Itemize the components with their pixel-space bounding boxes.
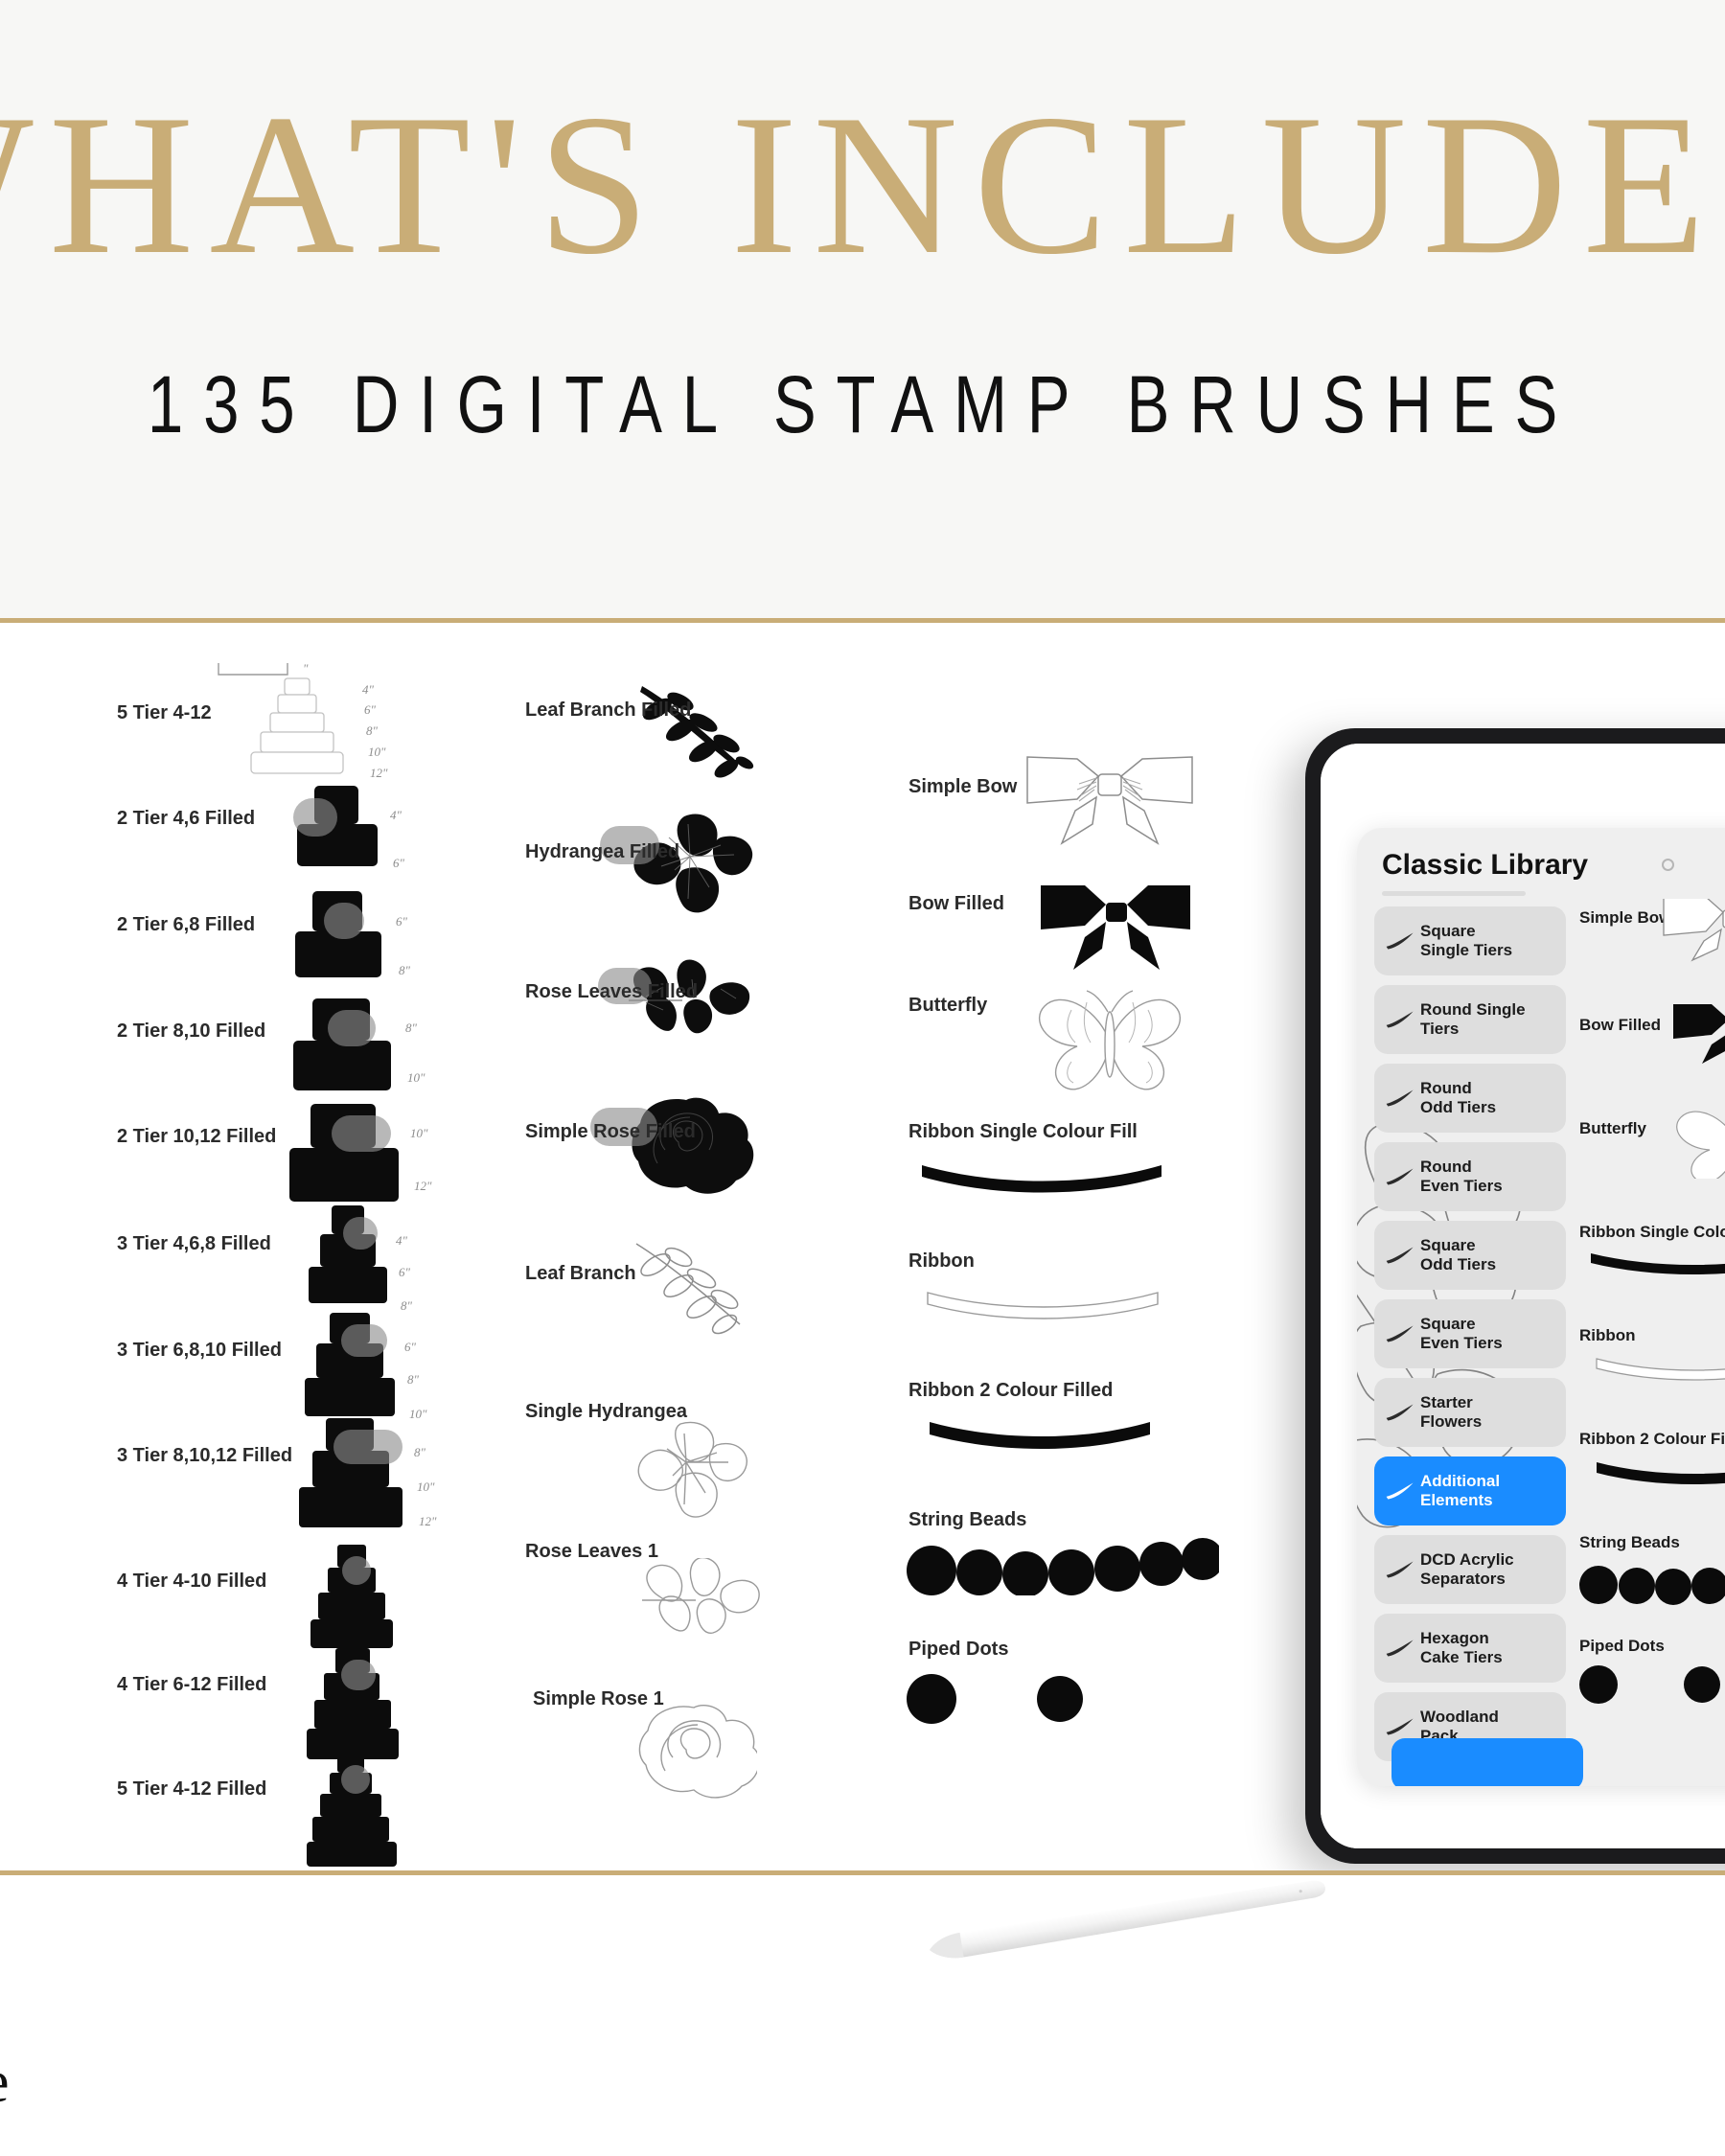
dim: 4" (396, 1233, 407, 1249)
dim: 10" (368, 745, 385, 760)
dim: 6" (396, 914, 407, 929)
dim: 10" (407, 1070, 425, 1086)
dim: 4" (362, 682, 374, 698)
brush-stroke-icon (1384, 930, 1420, 952)
bow-outline-art (1660, 899, 1725, 962)
list-item-label: Rose Leaves 1 (525, 1541, 658, 1563)
dim-top: " (303, 661, 308, 677)
brush-preview-list: Simple Bow Bow Filled (1579, 899, 1725, 1786)
list-item-label: Simple Rose Filled (525, 1121, 696, 1143)
single-hydrangea-outline-art (634, 1420, 759, 1525)
dim: 10" (410, 1126, 427, 1141)
tooltip-pill (342, 1556, 371, 1585)
cake-5tier-outline-art (247, 675, 353, 775)
list-item-label: 4 Tier 6-12 Filled (117, 1674, 266, 1696)
tooltip-pill (341, 1660, 376, 1690)
brush-stroke-icon (1384, 1480, 1420, 1502)
brush-set-label: Round Odd Tiers (1420, 1079, 1496, 1117)
preview-label: Bow Filled (1579, 1016, 1661, 1035)
dim: 8" (399, 963, 410, 978)
brush-set-label: Hexagon Cake Tiers (1420, 1629, 1503, 1667)
list-item-label: 2 Tier 10,12 Filled (117, 1126, 276, 1148)
string-beads-art (903, 1538, 1219, 1595)
string-beads-art (1579, 1560, 1725, 1606)
list-item-label: Ribbon 2 Colour Filled (908, 1380, 1113, 1402)
brush-set-label: Starter Flowers (1420, 1393, 1482, 1432)
tooltip-pill (293, 798, 337, 837)
preview-label: Butterfly (1579, 1119, 1646, 1138)
dim: 6" (399, 1265, 410, 1280)
dim: 12" (414, 1179, 431, 1194)
dim: 8" (407, 1372, 419, 1388)
ribbon-outline-art (924, 1289, 1163, 1327)
list-item-label: Single Hydrangea (525, 1401, 687, 1423)
ribbon-two-colour-art (1593, 1458, 1725, 1487)
tooltip-pill (332, 1115, 391, 1152)
preview-label: Simple Bow (1579, 908, 1671, 928)
brush-set-item-starter-flowers[interactable]: Starter Flowers (1374, 1378, 1566, 1447)
list-item-label: Rose Leaves Filled (525, 981, 698, 1003)
bow-filled-art (1671, 998, 1725, 1066)
brush-set-label: Additional Elements (1420, 1472, 1500, 1510)
tooltip-pill (343, 1217, 378, 1250)
tooltip-pill (333, 1430, 402, 1464)
bow-filled-art (1039, 878, 1192, 974)
list-item-label: Simple Bow (908, 776, 1017, 798)
dim: 12" (370, 766, 387, 781)
brush-set-label: Square Single Tiers (1420, 922, 1512, 960)
preview-label: Ribbon Single Colour Fill (1579, 1223, 1725, 1242)
dim: 6" (404, 1340, 416, 1355)
brush-set-item-square-odd-tiers[interactable]: Square Odd Tiers (1374, 1221, 1566, 1290)
ribbon-outline-art (1593, 1355, 1725, 1384)
list-item-label: 5 Tier 4-12 (117, 702, 212, 724)
page-title: WHAT'S INCLUDED (0, 84, 1725, 286)
list-item-label: String Beads (908, 1509, 1026, 1531)
ipad-mockup: Classic Library Square Single Tiers Roun… (1305, 728, 1725, 1864)
preview-label: String Beads (1579, 1533, 1680, 1552)
dim: 6" (364, 702, 376, 718)
brush-set-label: Square Odd Tiers (1420, 1236, 1496, 1274)
brush-stroke-icon (1384, 1323, 1420, 1344)
ribbon-two-colour-art (926, 1418, 1156, 1456)
brush-set-label: Round Even Tiers (1420, 1158, 1503, 1196)
dim: 8" (414, 1445, 425, 1460)
brush-library-panel[interactable]: Classic Library Square Single Tiers Roun… (1357, 828, 1725, 1786)
dim: 10" (409, 1407, 426, 1422)
list-item-label: 2 Tier 6,8 Filled (117, 914, 255, 936)
list-item-label: 4 Tier 4-10 Filled (117, 1571, 266, 1593)
panel-title: Classic Library (1382, 849, 1588, 882)
ipad-screen[interactable]: Classic Library Square Single Tiers Roun… (1321, 744, 1725, 1848)
list-item-label: 3 Tier 8,10,12 Filled (117, 1445, 292, 1467)
simple-rose-outline-art (632, 1698, 757, 1813)
brush-set-item-round-odd-tiers[interactable]: Round Odd Tiers (1374, 1064, 1566, 1133)
leaf-branch-filled-art (631, 680, 765, 786)
brush-set-list[interactable]: Square Single Tiers Round Single Tiers R… (1374, 906, 1566, 1786)
preview-label: Ribbon (1579, 1326, 1636, 1345)
dim: 4" (390, 808, 402, 823)
brush-stroke-icon (1384, 1402, 1420, 1423)
list-item-label: Leaf Branch Filled (525, 700, 691, 722)
footer-area (0, 1875, 1725, 2156)
brush-set-item-round-even-tiers[interactable]: Round Even Tiers (1374, 1142, 1566, 1211)
list-item-label: Bow Filled (908, 893, 1004, 915)
list-item-label: Hydrangea Filled (525, 841, 679, 863)
page-subtitle: 135 DIGITAL STAMP BRUSHES (148, 364, 1577, 445)
tooltip-pill (324, 903, 364, 939)
brush-set-label: DCD Acrylic Separators (1420, 1550, 1514, 1589)
list-item-label: Piped Dots (908, 1639, 1008, 1661)
brush-stroke-icon (1384, 1638, 1420, 1659)
header-band: WHAT'S INCLUDED 135 DIGITAL STAMP BRUSHE… (0, 0, 1725, 618)
butterfly-outline-art (1671, 1102, 1725, 1179)
list-item-label: 3 Tier 6,8,10 Filled (117, 1340, 282, 1362)
brush-set-label: Round Single Tiers (1420, 1000, 1526, 1039)
list-item-label: Leaf Branch (525, 1263, 636, 1285)
bottom-partial-mark: e (0, 2049, 10, 2117)
brush-set-item-square-even-tiers[interactable]: Square Even Tiers (1374, 1299, 1566, 1368)
list-item-label: Butterfly (908, 995, 987, 1017)
list-item-label: Simple Rose 1 (533, 1688, 664, 1710)
dim: 6" (393, 856, 404, 871)
brush-stroke-icon (1384, 1716, 1420, 1737)
butterfly-outline-art (1033, 987, 1186, 1102)
brush-set-item-square-single-tiers[interactable]: Square Single Tiers (1374, 906, 1566, 975)
dim: 12" (419, 1514, 436, 1529)
brush-stroke-icon (1384, 1088, 1420, 1109)
brush-stroke-icon (1384, 1166, 1420, 1187)
piped-dots-art (903, 1672, 1114, 1730)
brush-set-label: Square Even Tiers (1420, 1315, 1503, 1353)
leaf-branch-outline-art (629, 1236, 763, 1342)
dim: 10" (417, 1479, 434, 1495)
list-item-label: 3 Tier 4,6,8 Filled (117, 1233, 271, 1255)
brush-set-item-additional-elements[interactable]: Additional Elements (1374, 1456, 1566, 1525)
list-item-label: Ribbon (908, 1250, 975, 1273)
tooltip-pill (341, 1765, 370, 1794)
bow-outline-art (1023, 744, 1196, 849)
save-button[interactable] (1391, 1738, 1583, 1786)
brush-stroke-icon (1384, 1009, 1420, 1030)
list-item-label: Ribbon Single Colour Fill (908, 1121, 1138, 1143)
ribbon-filled-art (918, 1161, 1167, 1200)
ribbon-filled-art (1587, 1250, 1725, 1278)
dim: 8" (366, 723, 378, 739)
dim: 8" (405, 1021, 417, 1036)
preview-label: Ribbon 2 Colour Filled (1579, 1430, 1725, 1449)
piped-dots-art (1579, 1663, 1725, 1709)
dim: 8" (401, 1298, 412, 1314)
tooltip-pill (341, 1324, 387, 1357)
rose-leaves-outline-art (638, 1558, 763, 1663)
panel-options-icon[interactable] (1662, 859, 1674, 871)
preview-label: Piped Dots (1579, 1637, 1665, 1656)
brush-stroke-icon (1384, 1559, 1420, 1580)
tooltip-pill (328, 1010, 376, 1046)
panel-title-underline (1382, 891, 1526, 896)
brush-stroke-icon (1384, 1245, 1420, 1266)
brush-set-item-round-single-tiers[interactable]: Round Single Tiers (1374, 985, 1566, 1054)
list-item-label: 2 Tier 4,6 Filled (117, 808, 255, 830)
brush-set-item-dcd-acrylic-separators[interactable]: DCD Acrylic Separators (1374, 1535, 1566, 1604)
list-item-label: 2 Tier 8,10 Filled (117, 1021, 265, 1043)
brush-set-item-hexagon-cake-tiers[interactable]: Hexagon Cake Tiers (1374, 1614, 1566, 1683)
list-item-label: 5 Tier 4-12 Filled (117, 1778, 266, 1800)
